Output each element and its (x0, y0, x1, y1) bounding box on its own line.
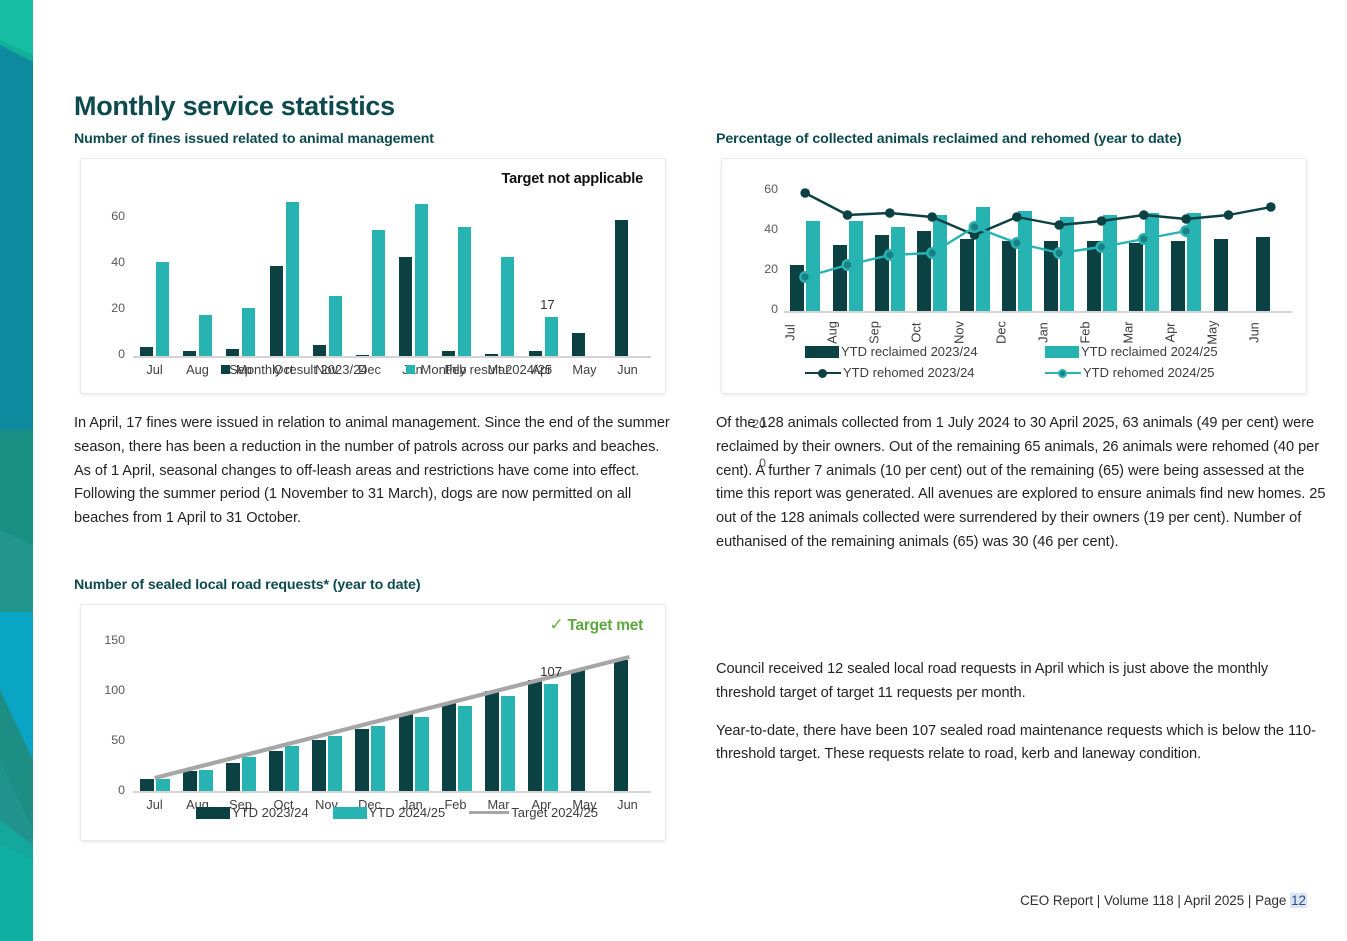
legend-roads: YTD 2023/24 YTD 2024/25 Target 2024/25 (196, 805, 598, 820)
marker-point (1012, 238, 1022, 248)
marker-point (885, 208, 895, 218)
x-label-r-jul: Jul (783, 312, 798, 354)
report-page: Monthly service statistics Number of fin… (33, 0, 1347, 941)
x-label-roads-jul: Jul (133, 797, 176, 812)
legend-item-roads-2: Target 2024/25 (469, 805, 598, 820)
legend-item-roads-1: YTD 2024/25 (333, 805, 446, 820)
chart-title-roads: Number of sealed local road requests* (y… (74, 577, 420, 593)
bar-fines-monthly-result-2024-25-Aug (199, 315, 212, 356)
commentary-fines-paragraph: In April, 17 fines were issued in relati… (74, 412, 672, 531)
marker-point (1054, 220, 1064, 230)
legend-label: YTD 2023/24 (232, 805, 309, 820)
x-label-fines-aug: Aug (176, 362, 219, 377)
footer: CEO Report | Volume 118 | April 2025 | P… (1020, 893, 1307, 908)
commentary-fines: In April, 17 fines were issued in relati… (74, 412, 672, 545)
commentary-animals-paragraph: Of the 128 animals collected from 1 July… (716, 412, 1326, 555)
line-ytd-rehomed-2023-24 (805, 193, 1271, 235)
commentary-animals: Of the 128 animals collected from 1 July… (716, 412, 1326, 569)
line-ytd-rehomed-2024-25 (805, 227, 1186, 277)
bar-fines-monthly-result-2024-25-Sep (242, 308, 255, 356)
marker-point (885, 250, 895, 260)
bar-fines-monthly-result-2024-25-Jul (156, 262, 169, 356)
legend-item-r-0: YTD reclaimed 2023/24 (805, 344, 1045, 359)
bar-fines-monthly-result-2024-25-Jan (415, 204, 428, 356)
legend-label: Monthly result 2023/24 (236, 362, 368, 377)
annotation-target-not-applicable: Target not applicable (502, 171, 644, 187)
commentary-roads: Council received 12 sealed local road re… (716, 658, 1316, 781)
marker-point (1139, 234, 1149, 244)
legend-line-icon (469, 811, 509, 814)
line-overlay-reclaimed (784, 181, 1292, 311)
chart-card-fines: Target not applicable 0 20 40 60 17 Jul … (80, 158, 666, 394)
legend-item-fines-1: Monthly result 2024/25 (406, 362, 553, 377)
y-tick-roads-0: 0 (85, 783, 125, 797)
y-tick-roads-150: 150 (85, 633, 125, 647)
y-tick-fines-60: 60 (89, 209, 125, 223)
y-tick-fines-40: 40 (89, 255, 125, 269)
legend-reclaimed-row1: YTD reclaimed 2023/24 YTD reclaimed 2024… (805, 344, 1218, 359)
x-label-fines-jun: Jun (606, 362, 649, 377)
chart-card-roads: ✓ Target met 0 50 100 150 107 Jul Aug Se… (80, 604, 666, 841)
y-tick-r-20: 20 (738, 262, 778, 276)
chart-title-fines: Number of fines issued related to animal… (74, 131, 434, 147)
y-tick-fines-0: 0 (89, 347, 125, 361)
y-tick-roads-50: 50 (85, 733, 125, 747)
legend-item-r-3: YTD rehomed 2024/25 (1045, 365, 1215, 380)
y-tick-r-40: 40 (738, 222, 778, 236)
legend-fines: Monthly result 2023/24 Monthly result 20… (221, 362, 552, 377)
marker-point (1266, 202, 1276, 212)
bar-fines-monthly-result-2023-24-Dec (356, 355, 369, 356)
legend-swatch-icon (333, 807, 367, 819)
commentary-roads-paragraph-1: Council received 12 sealed local road re… (716, 658, 1316, 706)
sidebar-decorative-graphic (0, 0, 33, 941)
legend-item-r-2: YTD rehomed 2023/24 (805, 365, 1045, 380)
y-tick-fines-20: 20 (89, 301, 125, 315)
bar-fines-monthly-result-2024-25-Mar (501, 257, 514, 356)
marker-point (1054, 248, 1064, 258)
data-label-roads-Apr: 107 (540, 664, 562, 679)
commentary-roads-paragraph-2: Year-to-date, there have been 107 sealed… (716, 720, 1316, 768)
marker-point (843, 210, 853, 220)
marker-point (843, 260, 853, 270)
bar-fines-monthly-result-2023-24-Jun (615, 220, 628, 356)
legend-label: YTD reclaimed 2024/25 (1081, 344, 1218, 359)
legend-item-fines-0: Monthly result 2023/24 (221, 362, 368, 377)
marker-point (927, 248, 937, 258)
bar-fines-monthly-result-2023-24-Oct (270, 266, 283, 356)
legend-label: YTD 2024/25 (369, 805, 446, 820)
footer-text: CEO Report | Volume 118 | April 2025 | P… (1020, 893, 1290, 908)
plot-area-roads: 107 (133, 631, 651, 791)
marker-point (1012, 212, 1022, 222)
axis-baseline-roads (133, 791, 651, 793)
bar-fines-monthly-result-2024-25-Feb (458, 227, 471, 356)
bar-fines-monthly-result-2023-24-Aug (183, 351, 196, 356)
y-tick-r-60: 60 (738, 182, 778, 196)
legend-line-marker-icon (1045, 367, 1081, 379)
legend-line-marker-icon (805, 367, 841, 379)
data-label-fines-Apr: 17 (540, 297, 555, 312)
page-title: Monthly service statistics (74, 91, 395, 122)
bar-fines-monthly-result-2024-25-Apr (545, 317, 558, 356)
footer-page-number: 12 (1290, 893, 1307, 908)
legend-label: YTD reclaimed 2023/24 (841, 344, 978, 359)
bar-fines-monthly-result-2024-25-Dec (372, 230, 385, 357)
bar-fines-monthly-result-2023-24-Nov (313, 345, 326, 357)
chart-title-reclaimed: Percentage of collected animals reclaime… (716, 131, 1182, 147)
legend-label: YTD rehomed 2023/24 (843, 365, 975, 380)
legend-item-roads-0: YTD 2023/24 (196, 805, 309, 820)
y-tick-roads-100: 100 (85, 683, 125, 697)
marker-point (1224, 210, 1234, 220)
marker-point (1139, 210, 1149, 220)
legend-label: YTD rehomed 2024/25 (1083, 365, 1215, 380)
legend-swatch-icon (196, 807, 230, 819)
bar-fines-monthly-result-2023-24-Mar (485, 354, 498, 356)
bar-fines-monthly-result-2023-24-May (572, 333, 585, 356)
legend-swatch-icon (406, 365, 415, 374)
bar-fines-monthly-result-2023-24-Sep (226, 349, 239, 356)
marker-point (800, 188, 810, 198)
bar-fines-monthly-result-2024-25-Oct (286, 202, 299, 356)
marker-point (1097, 216, 1107, 226)
marker-point (1181, 226, 1191, 236)
x-label-fines-jul: Jul (133, 362, 176, 377)
x-label-roads-jun: Jun (606, 797, 649, 812)
legend-item-r-1: YTD reclaimed 2024/25 (1045, 344, 1218, 359)
legend-swatch-icon (805, 346, 839, 358)
plot-area-reclaimed (784, 181, 1292, 311)
x-label-fines-may: May (563, 362, 606, 377)
bar-fines-monthly-result-2023-24-Jul (140, 347, 153, 356)
bar-fines-monthly-result-2024-25-Nov (329, 296, 342, 356)
plot-area-fines: 17 (133, 195, 651, 356)
marker-point (1181, 214, 1191, 224)
marker-point (1097, 242, 1107, 252)
legend-swatch-icon (221, 365, 230, 374)
legend-label: Monthly result 2024/25 (421, 362, 553, 377)
bar-fines-monthly-result-2023-24-Feb (442, 351, 455, 356)
legend-label: Target 2024/25 (511, 805, 598, 820)
x-label-r-jun: Jun (1247, 312, 1262, 354)
axis-baseline-fines (133, 356, 651, 358)
marker-point (970, 222, 980, 232)
legend-swatch-icon (1045, 346, 1079, 358)
marker-point (927, 212, 937, 222)
bar-fines-monthly-result-2023-24-Jan (399, 257, 412, 356)
legend-reclaimed-row2: YTD rehomed 2023/24 YTD rehomed 2024/25 (805, 365, 1215, 380)
marker-point (800, 272, 810, 282)
y-tick-r-0: 0 (738, 302, 778, 316)
bar-fines-monthly-result-2023-24-Apr (529, 351, 542, 356)
chart-card-reclaimed: 0 20 0 20 40 60 Jul Aug Sep Oct Nov Dec … (721, 158, 1307, 394)
line-overlay-roads (133, 631, 651, 791)
